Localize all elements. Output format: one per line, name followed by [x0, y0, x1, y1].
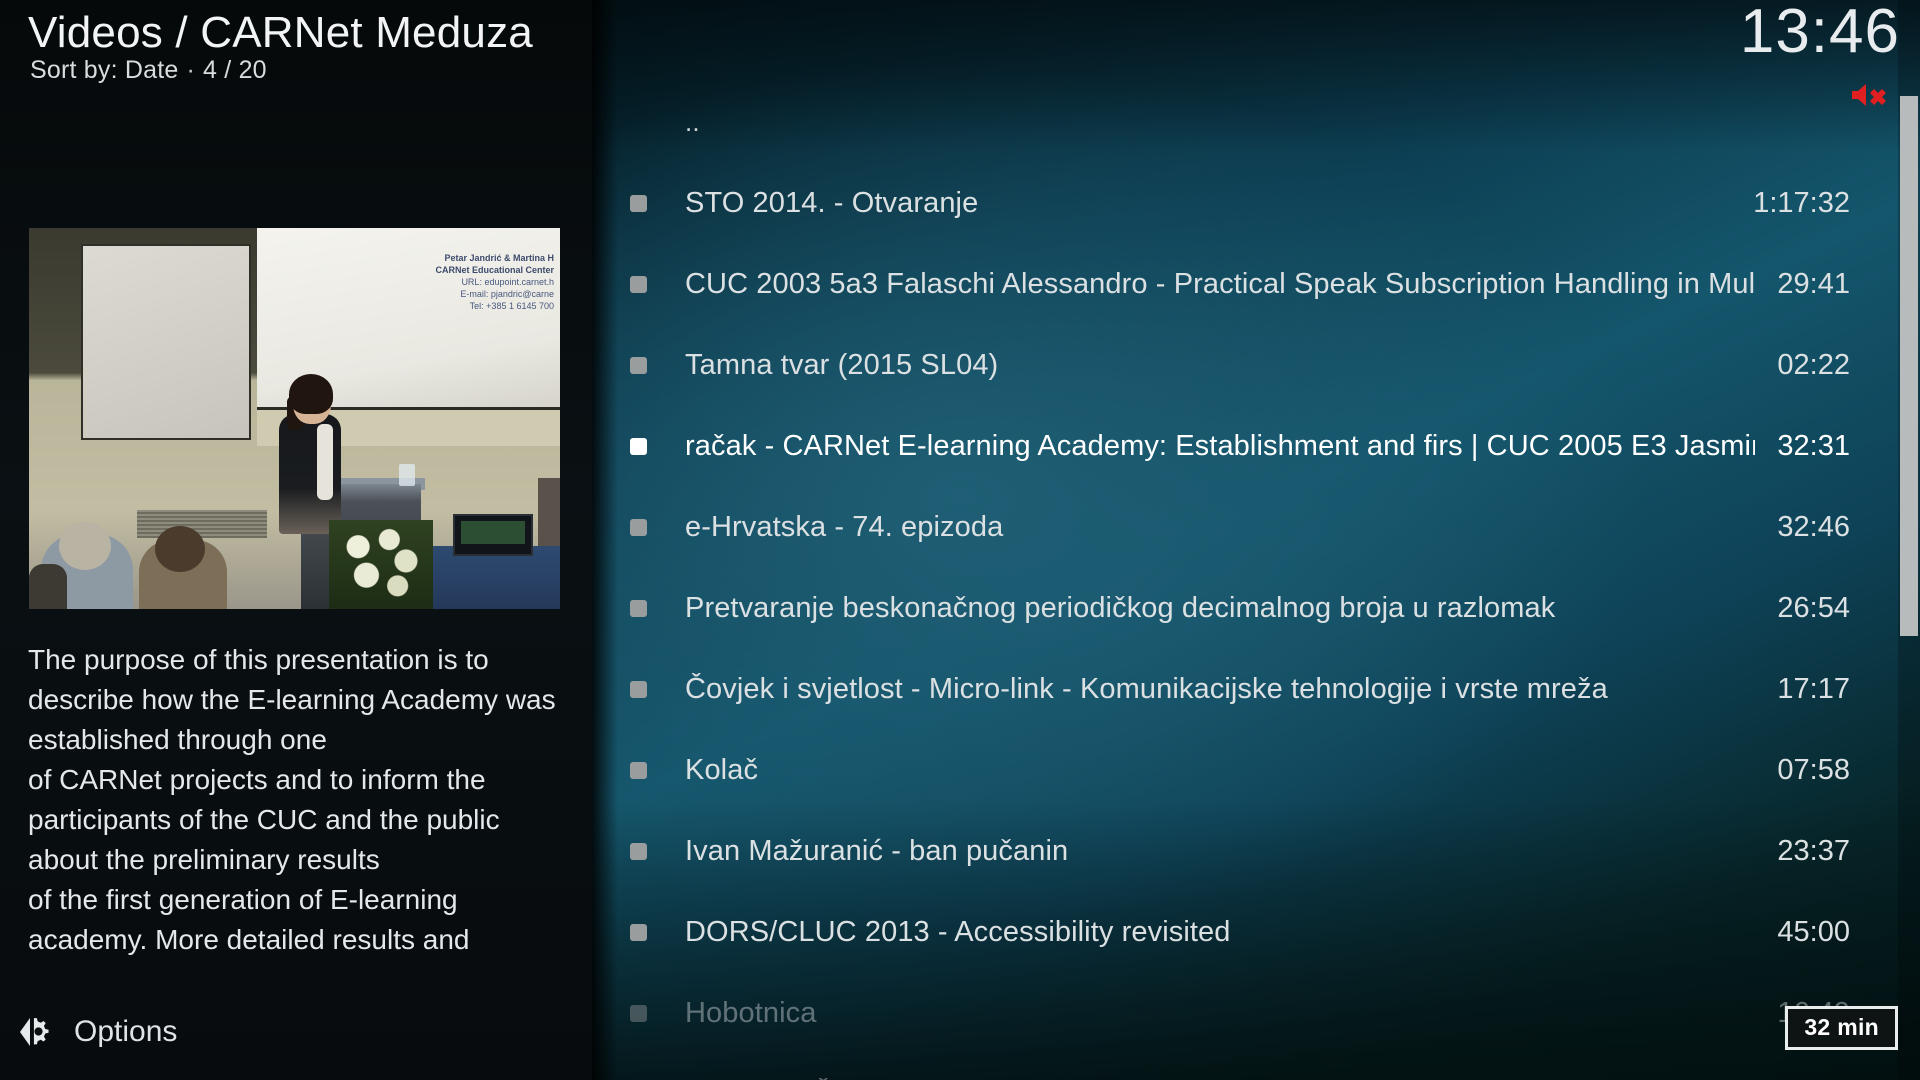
list-item-duration: 17:17: [1777, 673, 1850, 706]
page-title: Videos / CARNet Meduza: [28, 8, 533, 58]
list-item-title: ..: [685, 107, 1828, 138]
video-thumbnail: Petar Jandrić & Martina H CARNet Educati…: [29, 228, 560, 609]
slide-line-3: URL: edupoint.carnet.h: [435, 276, 554, 288]
list-item-duration: 07:58: [1777, 754, 1850, 787]
list-item-duration: 32:31: [1777, 430, 1850, 463]
list-item[interactable]: ..: [590, 82, 1920, 162]
list-item-bullet-icon: [630, 681, 647, 698]
clock: 13:46: [1740, 0, 1900, 67]
list-item-duration: 26:54: [1777, 592, 1850, 625]
list-item-title: Ivan Mažuranić - ban pučanin: [685, 835, 1755, 868]
list-scrollbar-thumb[interactable]: [1900, 96, 1918, 636]
list-item[interactable]: CUC 2003 5a3 Falaschi Alessandro - Pract…: [590, 244, 1920, 324]
slide-line-5: Tel: +385 1 6145 700: [435, 300, 554, 312]
list-item-bullet-icon: [630, 519, 647, 536]
list-item-duration: 29:41: [1777, 268, 1850, 301]
slide-line-1: Petar Jandrić & Martina H: [444, 253, 554, 263]
list-item[interactable]: Pretvaranje beskonačnog periodičkog deci…: [590, 568, 1920, 648]
list-item-title: DORS/CLUC 2013 - Accessibility revisited: [685, 916, 1755, 949]
list-item[interactable]: Ivan Mažuranić - ban pučanin23:37: [590, 811, 1920, 891]
slide-line-2: CARNet Educational Center: [435, 265, 554, 275]
list-item-selected[interactable]: račak - CARNet E-learning Academy: Estab…: [590, 406, 1920, 486]
list-item[interactable]: e-Hrvatska - 74. epizoda32:46: [590, 487, 1920, 567]
list-item-duration: 02:22: [1777, 349, 1850, 382]
thumbnail-slide-text: Petar Jandrić & Martina H CARNet Educati…: [435, 252, 554, 312]
kodi-video-library-screen: ..STO 2014. - Otvaranje1:17:32CUC 2003 5…: [0, 0, 1920, 1080]
list-item-bullet-icon: [630, 1005, 647, 1022]
list-item[interactable]: STO 2014. - Otvaranje1:17:32: [590, 163, 1920, 243]
list-item[interactable]: DORS/CLUC 2013 - Accessibility revisited…: [590, 892, 1920, 972]
list-item-title: Hobotnica: [685, 997, 1755, 1030]
list-item-bullet-icon: [630, 276, 647, 293]
list-position: 4 / 20: [203, 56, 267, 84]
duration-badge: 32 min: [1785, 1006, 1898, 1050]
list-item-title: CUC 2003 5a3 Falaschi Alessandro - Pract…: [685, 268, 1755, 301]
list-item-bullet-icon: [630, 843, 647, 860]
list-item[interactable]: Kolač07:58: [590, 730, 1920, 810]
list-item-title: Kolač: [685, 754, 1755, 787]
list-item-title: Čovjek i svjetlost - Micro-link - Komuni…: [685, 673, 1755, 706]
mute-speaker-icon[interactable]: [1850, 82, 1892, 108]
list-item-bullet-icon: [630, 438, 647, 455]
video-list[interactable]: ..STO 2014. - Otvaranje1:17:32CUC 2003 5…: [590, 0, 1920, 1080]
list-item-bullet-icon: [630, 600, 647, 617]
list-item-duration: 23:37: [1777, 835, 1850, 868]
list-item-duration: 1:17:32: [1753, 187, 1850, 220]
options-label: Options: [74, 1015, 177, 1049]
list-item-bullet-icon: [630, 924, 647, 941]
list-item-title: STO 2014. - Otvaranje: [685, 187, 1731, 220]
list-item-bullet-icon: [630, 762, 647, 779]
list-item-title: e-Hrvatska - 74. epizoda: [685, 511, 1755, 544]
sort-label[interactable]: Sort by: Date: [30, 56, 179, 84]
list-item[interactable]: Hobotnica16:49: [590, 973, 1920, 1053]
info-sidebar: Petar Jandrić & Martina H CARNet Educati…: [0, 0, 592, 1080]
list-item-bullet-icon: [630, 357, 647, 374]
slide-line-4: E-mail: pjandric@carne: [435, 288, 554, 300]
sort-and-position: Sort by: Date·4 / 20: [30, 56, 267, 85]
list-item-duration: 45:00: [1777, 916, 1850, 949]
list-item[interactable]: Čovjek i svjetlost - Micro-link - Komuni…: [590, 649, 1920, 729]
list-item-title: Pretvaranje beskonačnog periodičkog deci…: [685, 592, 1755, 625]
list-item[interactable]: Tamna tvar (2015 SL04)02:22: [590, 325, 1920, 405]
list-item[interactable]: Posjeta OŠ Veliki Bukovec CARNet u06:57: [590, 1054, 1920, 1080]
list-item-duration: 32:46: [1777, 511, 1850, 544]
list-item-title: račak - CARNet E-learning Academy: Estab…: [685, 430, 1755, 463]
options-button[interactable]: Options: [16, 1008, 177, 1056]
list-item-title: Tamna tvar (2015 SL04): [685, 349, 1755, 382]
video-description: The purpose of this presentation is to d…: [28, 640, 568, 960]
separator-dot: ·: [179, 56, 204, 84]
list-item-bullet-icon: [630, 195, 647, 212]
options-gear-icon: [16, 1014, 56, 1050]
